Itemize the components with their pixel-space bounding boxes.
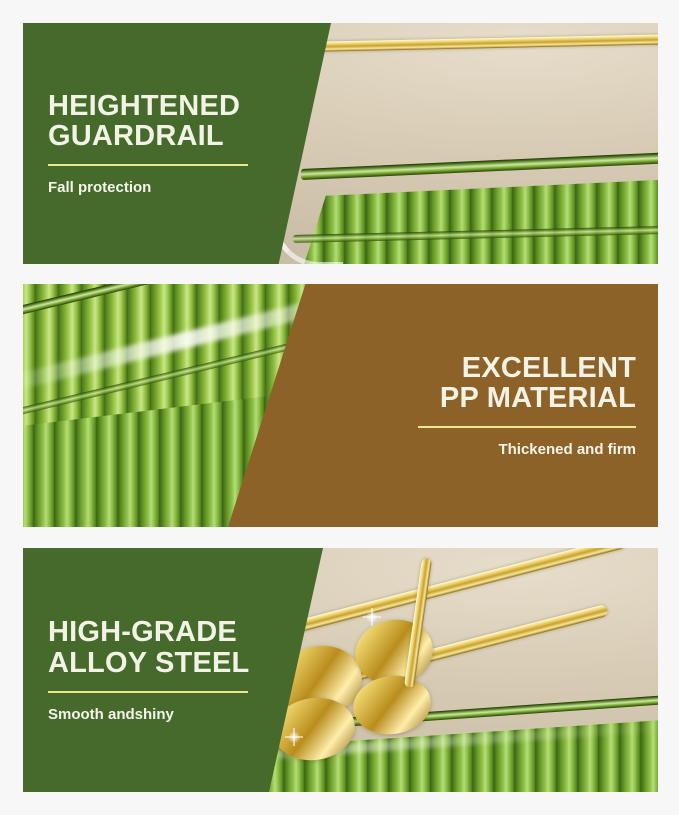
heading-line-2: GUARDRAIL xyxy=(48,121,331,151)
heading-line-1: HEIGHTENED xyxy=(48,91,331,121)
guardrail-text-block: HEIGHTENED GUARDRAIL Fall protection xyxy=(23,23,331,264)
panel-high-grade-alloy-steel: HIGH-GRADE ALLOY STEEL Smooth andshiny xyxy=(23,548,658,792)
heading-line-2: PP MATERIAL xyxy=(440,383,636,413)
panel-heightened-guardrail: 1.6 in HEIGHTENED GUARDRAIL Fall protect… xyxy=(23,23,658,264)
panel-heading: EXCELLENT PP MATERIAL xyxy=(440,353,636,413)
heading-line-1: EXCELLENT xyxy=(440,353,636,383)
panel-excellent-pp-material: EXCELLENT PP MATERIAL Thickened and firm xyxy=(23,284,658,527)
heading-divider xyxy=(418,426,636,428)
panel-heading: HIGH-GRADE ALLOY STEEL xyxy=(48,617,323,677)
panel-subtitle: Fall protection xyxy=(48,179,331,196)
heading-line-2: ALLOY STEEL xyxy=(48,648,323,678)
panel-subtitle: Thickened and firm xyxy=(498,441,636,458)
heading-line-1: HIGH-GRADE xyxy=(48,617,323,647)
heading-divider xyxy=(48,164,248,166)
panel-subtitle: Smooth andshiny xyxy=(48,706,323,723)
heading-divider xyxy=(48,691,248,693)
infographic-sheet: 1.6 in HEIGHTENED GUARDRAIL Fall protect… xyxy=(0,0,679,815)
panel-heading: HEIGHTENED GUARDRAIL xyxy=(48,91,331,151)
